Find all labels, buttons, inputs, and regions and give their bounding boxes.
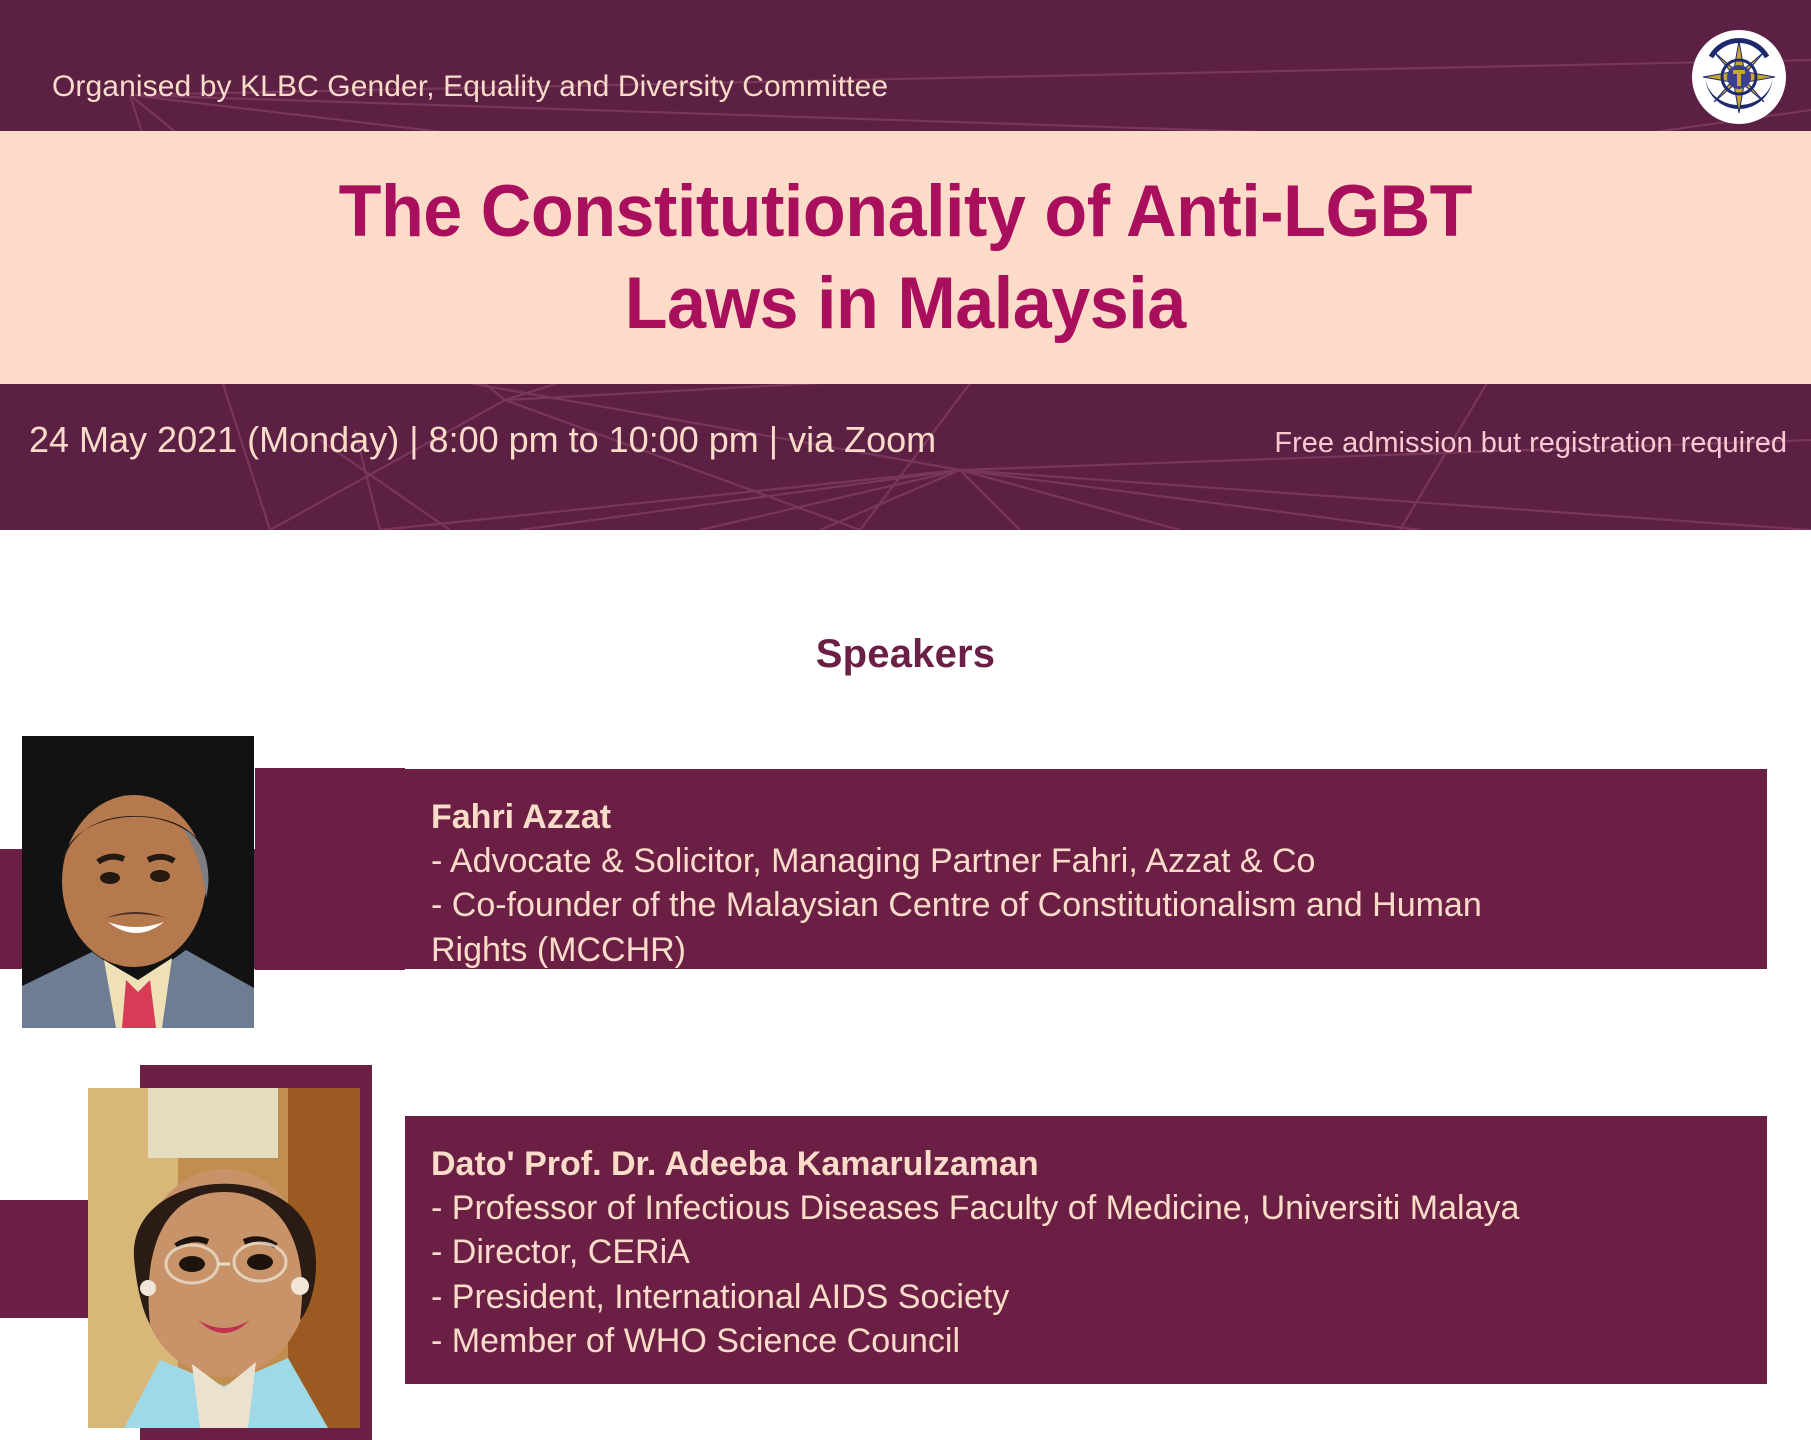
- poster-title-bar: The Constitutionality of Anti-LGBT Laws …: [0, 131, 1811, 384]
- organiser-label: Organised by KLBC Gender, Equality and D…: [52, 70, 888, 104]
- event-datetime-label: 24 May 2021 (Monday) | 8:00 pm to 10:00 …: [29, 400, 936, 480]
- speakers-heading: Speakers: [0, 632, 1811, 677]
- speaker-1-info-box: Fahri Azzat - Advocate & Solicitor, Mana…: [405, 769, 1767, 969]
- speaker-1-detail-line: Rights (MCCHR): [431, 928, 1737, 972]
- speaker-2-detail-line: - Member of WHO Science Council: [431, 1319, 1737, 1363]
- event-details-row: 24 May 2021 (Monday) | 8:00 pm to 10:00 …: [0, 400, 1811, 480]
- speaker-2-detail-line: - Director, CERiA: [431, 1230, 1737, 1274]
- speaker-2-detail-line: - Professor of Infectious Diseases Facul…: [431, 1186, 1737, 1230]
- page-title-line-2: Laws in Malaysia: [625, 258, 1186, 349]
- speaker-1-detail-line: - Co-founder of the Malaysian Centre of …: [431, 883, 1737, 927]
- speaker-2-photo: [88, 1088, 360, 1428]
- admission-note-label: Free admission but registration required: [1274, 400, 1787, 486]
- speaker-2-detail-line: - President, International AIDS Society: [431, 1275, 1737, 1319]
- klbc-emblem-logo-icon: [1691, 29, 1787, 125]
- speaker-1-detail-line: - Advocate & Solicitor, Managing Partner…: [431, 839, 1737, 883]
- speaker-2-name: Dato' Prof. Dr. Adeeba Kamarulzaman: [431, 1142, 1737, 1186]
- speaker-1-mid-accent-bar: [255, 768, 405, 970]
- page-title-line-1: The Constitutionality of Anti-LGBT: [339, 166, 1472, 257]
- speaker-1-name: Fahri Azzat: [431, 795, 1737, 839]
- speaker-1-photo: [22, 736, 254, 1028]
- speaker-2-info-box: Dato' Prof. Dr. Adeeba Kamarulzaman - Pr…: [405, 1116, 1767, 1384]
